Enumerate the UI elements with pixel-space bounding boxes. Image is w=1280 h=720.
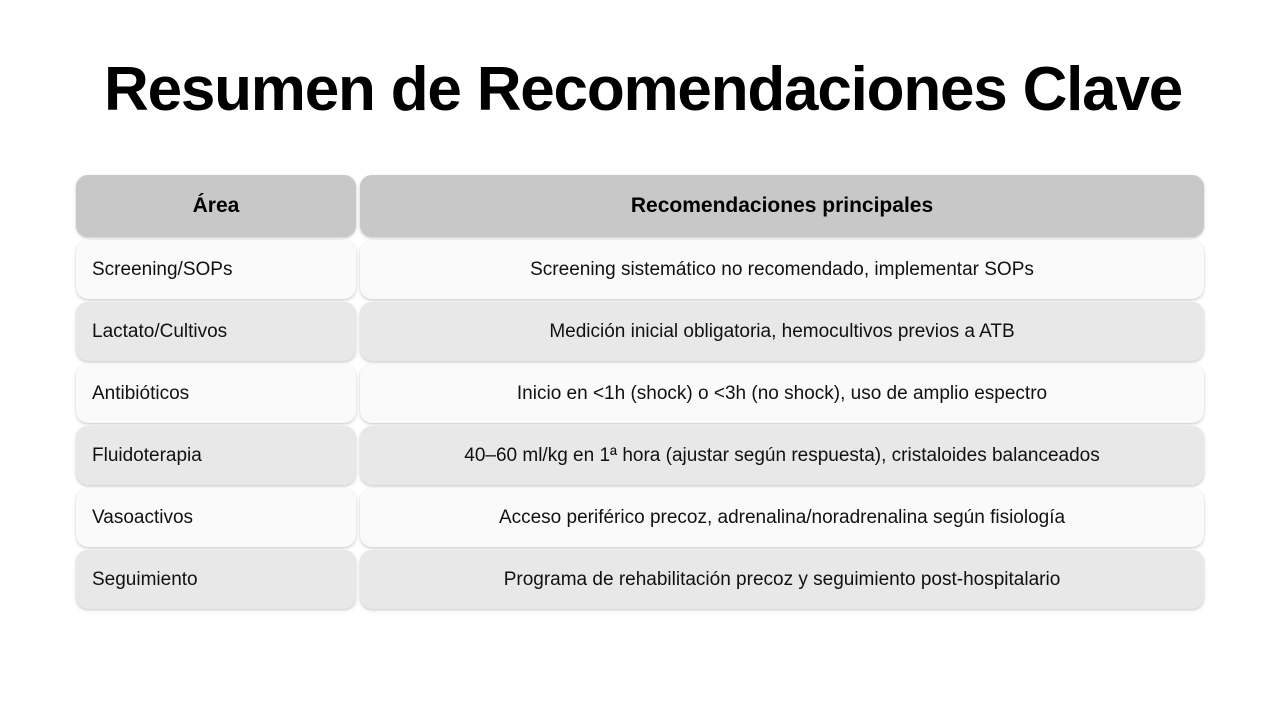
column-header-recomendaciones-label: Recomendaciones principales xyxy=(378,194,1186,218)
table-cell-recomendaciones-text: Programa de rehabilitación precoz y segu… xyxy=(378,569,1186,591)
table-cell-area-text: Seguimiento xyxy=(92,569,340,591)
table-cell-area: Vasoactivos xyxy=(76,488,356,547)
table-cell-area-text: Lactato/Cultivos xyxy=(92,321,340,343)
table-cell-area: Lactato/Cultivos xyxy=(76,302,356,361)
table-cell-recomendaciones: Screening sistemático no recomendado, im… xyxy=(360,240,1204,299)
table-cell-recomendaciones: Medición inicial obligatoria, hemocultiv… xyxy=(360,302,1204,361)
table-header-row: Área Recomendaciones principales xyxy=(76,175,1204,237)
column-header-area: Área xyxy=(76,175,356,237)
table-row: Screening/SOPs Screening sistemático no … xyxy=(76,240,1204,299)
table-cell-recomendaciones-text: Inicio en <1h (shock) o <3h (no shock), … xyxy=(378,383,1186,405)
table-cell-area: Fluidoterapia xyxy=(76,426,356,485)
table-row: Antibióticos Inicio en <1h (shock) o <3h… xyxy=(76,364,1204,423)
table-cell-recomendaciones-text: Screening sistemático no recomendado, im… xyxy=(378,259,1186,281)
table-row: Lactato/Cultivos Medición inicial obliga… xyxy=(76,302,1204,361)
table-cell-area-text: Antibióticos xyxy=(92,383,340,405)
recommendations-table: Área Recomendaciones principales Screeni… xyxy=(76,175,1204,609)
table-cell-recomendaciones: Inicio en <1h (shock) o <3h (no shock), … xyxy=(360,364,1204,423)
table-cell-recomendaciones: Acceso periférico precoz, adrenalina/nor… xyxy=(360,488,1204,547)
table-cell-area-text: Fluidoterapia xyxy=(92,445,340,467)
column-header-area-label: Área xyxy=(92,194,340,218)
table-cell-area: Screening/SOPs xyxy=(76,240,356,299)
table-cell-recomendaciones-text: Acceso periférico precoz, adrenalina/nor… xyxy=(378,507,1186,529)
table-row: Fluidoterapia 40–60 ml/kg en 1ª hora (aj… xyxy=(76,426,1204,485)
table-cell-area-text: Vasoactivos xyxy=(92,507,340,529)
table-row: Seguimiento Programa de rehabilitación p… xyxy=(76,550,1204,609)
table-cell-recomendaciones-text: Medición inicial obligatoria, hemocultiv… xyxy=(378,321,1186,343)
table-cell-recomendaciones: Programa de rehabilitación precoz y segu… xyxy=(360,550,1204,609)
table-cell-recomendaciones: 40–60 ml/kg en 1ª hora (ajustar según re… xyxy=(360,426,1204,485)
page-title: Resumen de Recomendaciones Clave xyxy=(104,56,1184,124)
table-cell-area: Seguimiento xyxy=(76,550,356,609)
table-cell-recomendaciones-text: 40–60 ml/kg en 1ª hora (ajustar según re… xyxy=(378,445,1186,467)
table-row: Vasoactivos Acceso periférico precoz, ad… xyxy=(76,488,1204,547)
slide: Resumen de Recomendaciones Clave Área Re… xyxy=(0,0,1280,720)
column-header-recomendaciones: Recomendaciones principales xyxy=(360,175,1204,237)
table-cell-area-text: Screening/SOPs xyxy=(92,259,340,281)
table-cell-area: Antibióticos xyxy=(76,364,356,423)
